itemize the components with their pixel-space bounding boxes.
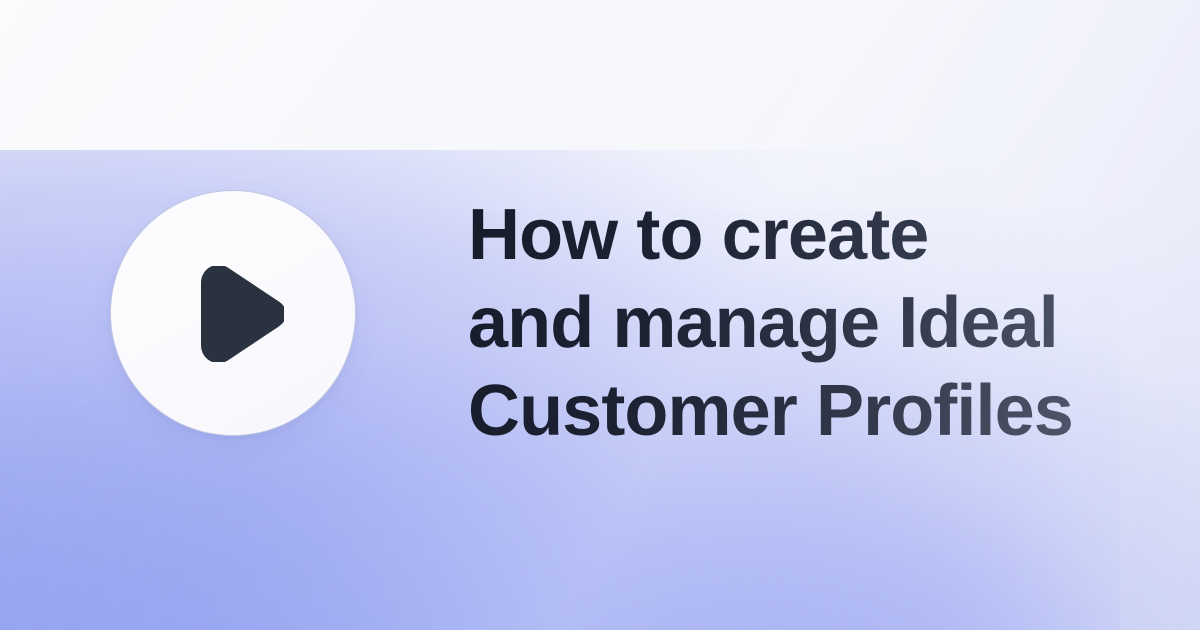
- play-button[interactable]: [110, 190, 356, 436]
- video-preview-card: How to create and manage Ideal Customer …: [0, 0, 1200, 630]
- page-title: How to create and manage Ideal Customer …: [468, 191, 1148, 455]
- play-icon: [192, 266, 284, 362]
- card-content: How to create and manage Ideal Customer …: [0, 0, 1200, 630]
